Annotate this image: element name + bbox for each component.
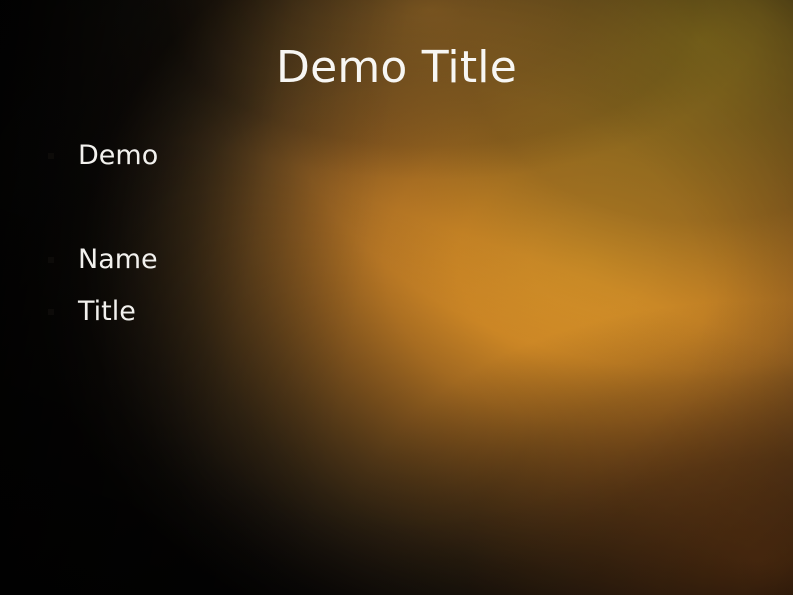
outline-item-empty[interactable] — [44, 182, 744, 234]
outline-item-label: Name — [78, 234, 158, 286]
slide-title[interactable]: Demo Title — [0, 44, 793, 92]
outline-item[interactable]: Demo — [44, 130, 744, 182]
slide-outline-body[interactable]: Demo Name Title — [44, 130, 744, 338]
presentation-slide: Demo Title Demo Name Title — [0, 0, 793, 595]
slide-content-area: Demo Title Demo Name Title — [0, 0, 793, 595]
outline-item-label: Demo — [78, 130, 158, 182]
square-bullet-icon — [48, 257, 54, 263]
outline-item[interactable]: Name — [44, 234, 744, 286]
square-bullet-icon — [48, 309, 54, 315]
square-bullet-icon — [48, 153, 54, 159]
outline-item-label: Title — [78, 286, 136, 338]
outline-item[interactable]: Title — [44, 286, 744, 338]
